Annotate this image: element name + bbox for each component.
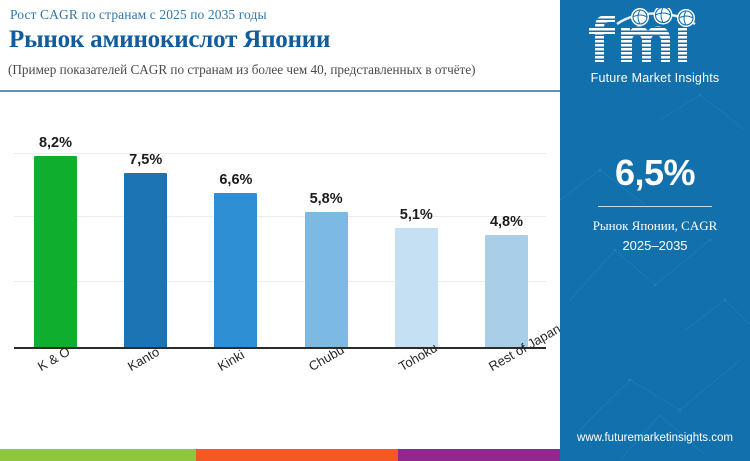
- eyebrow-text: Рост CAGR по странам с 2025 по 2035 годы: [10, 7, 267, 23]
- strip-segment-purple: [398, 449, 560, 461]
- stat-caption-market: Рынок Японии, CAGR: [560, 218, 750, 234]
- x-axis-label: Kinki: [215, 347, 247, 374]
- strip-segment-orange: [196, 449, 398, 461]
- gridline: [14, 281, 546, 282]
- gridline: [14, 153, 546, 154]
- bar-value-label: 6,6%: [201, 172, 271, 188]
- bar-tohoku: [395, 228, 438, 347]
- bar-value-label: 5,1%: [381, 207, 451, 223]
- bar-rest-of-japan: [485, 235, 528, 347]
- bottom-color-strip: [0, 449, 560, 461]
- brand-side-panel: Future Market Insights 6,5% Рынок Японии…: [560, 0, 750, 461]
- bar-chart: 8,2%7,5%6,6%5,8%5,1%4,8% K & OKantoKinki…: [0, 92, 560, 448]
- gridline: [14, 216, 546, 217]
- x-axis-line: [14, 347, 546, 349]
- bar-value-label: 7,5%: [111, 152, 181, 168]
- headline-stat-value: 6,5%: [560, 152, 750, 194]
- page-subtitle: (Пример показателей CAGR по странам из б…: [8, 62, 476, 78]
- fmi-logo: Future Market Insights: [560, 8, 750, 85]
- bar-kanto: [124, 173, 167, 347]
- left-content-panel: Рост CAGR по странам с 2025 по 2035 годы…: [0, 0, 560, 448]
- fmi-logo-mark: [585, 8, 725, 70]
- page-title: Рынок аминокислот Японии: [9, 26, 330, 54]
- bar-kinki: [214, 193, 257, 347]
- bar-value-label: 5,8%: [291, 191, 361, 207]
- website-url: www.futuremarketinsights.com: [560, 432, 750, 444]
- stat-caption-period: 2025–2035: [560, 238, 750, 253]
- logo-tagline: Future Market Insights: [560, 71, 750, 85]
- bar-value-label: 4,8%: [472, 214, 542, 230]
- bar-k-o: [34, 156, 77, 347]
- bar-chubu: [305, 212, 348, 347]
- bar-value-label: 8,2%: [21, 135, 91, 151]
- stat-divider: [598, 206, 712, 207]
- infographic-root: Рост CAGR по странам с 2025 по 2035 годы…: [0, 0, 750, 461]
- strip-segment-green: [0, 449, 196, 461]
